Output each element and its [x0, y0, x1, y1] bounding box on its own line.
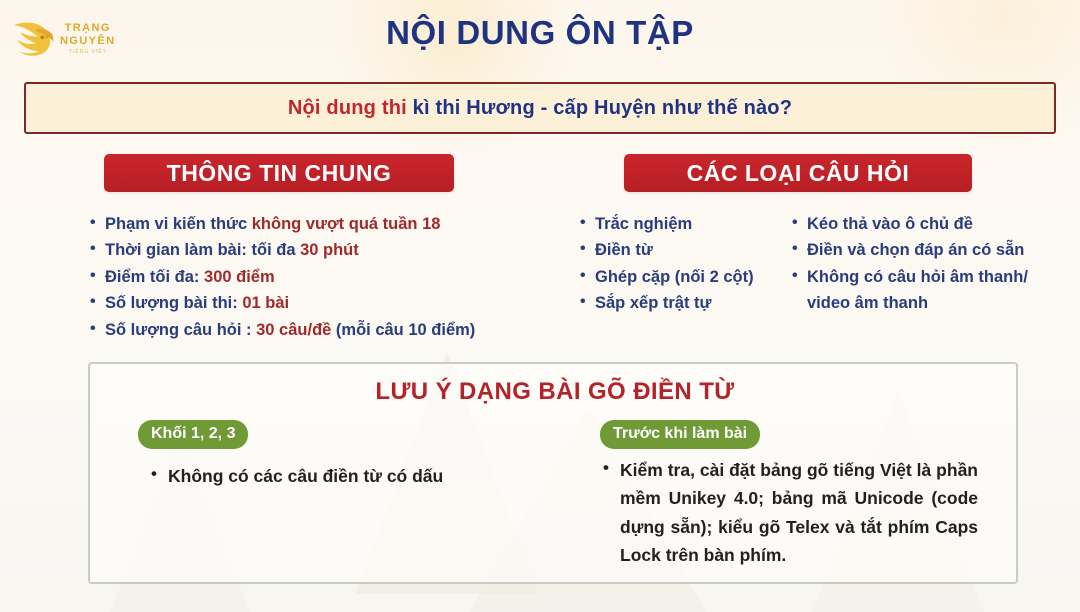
item-highlight: 30 câu/đề	[256, 321, 331, 339]
item-highlight: 300 điểm	[204, 268, 275, 286]
badge-before-exam: Trước khi làm bài	[600, 420, 760, 449]
list-item: Kiểm tra, cài đặt bảng gõ tiếng Việt là …	[600, 456, 978, 569]
list-item: Điền từ	[578, 237, 754, 263]
subtitle-text: Nội dung thi kì thi Hương - cấp Huyện nh…	[288, 97, 792, 120]
list-item: Điền và chọn đáp án có sẵn	[790, 237, 1028, 263]
item-label: Điểm tối đa:	[105, 268, 204, 286]
subtitle-banner: Nội dung thi kì thi Hương - cấp Huyện nh…	[24, 82, 1056, 134]
question-types-list-column-2: Kéo thả vào ô chủ đề Điền và chọn đáp án…	[790, 211, 1028, 317]
list-item: Sắp xếp trật tự	[578, 290, 754, 316]
list-item: Số lượng câu hỏi : 30 câu/đề (mỗi câu 10…	[88, 317, 475, 343]
page-title: NỘI DUNG ÔN TẬP	[0, 14, 1080, 52]
list-item: Phạm vi kiến thức không vượt quá tuần 18	[88, 211, 475, 237]
section-heading-question-types-label: CÁC LOẠI CÂU HỎI	[687, 160, 910, 187]
list-item: Điểm tối đa: 300 điểm	[88, 264, 475, 290]
list-item: Thời gian làm bài: tối đa 30 phút	[88, 237, 475, 263]
note-left-list: Không có các câu điền từ có dấu	[148, 462, 548, 490]
subtitle-blue-part: kì thi Hương - cấp Huyện như thế nào?	[413, 97, 792, 119]
section-heading-question-types: CÁC LOẠI CÂU HỎI	[624, 154, 972, 192]
item-tail: (mỗi câu 10 điểm)	[331, 321, 475, 339]
list-item: Không có các câu điền từ có dấu	[148, 462, 548, 490]
subtitle-red-part: Nội dung thi	[288, 97, 413, 119]
note-right-list: Kiểm tra, cài đặt bảng gõ tiếng Việt là …	[600, 456, 978, 569]
list-item: Không có câu hỏi âm thanh/	[790, 264, 1028, 290]
item-label: Thời gian làm bài: tối đa	[105, 241, 300, 259]
list-item: Trắc nghiệm	[578, 211, 754, 237]
note-box-title: LƯU Ý DẠNG BÀI GÕ ĐIỀN TỪ	[90, 378, 1020, 406]
question-types-list-column-1: Trắc nghiệm Điền từ Ghép cặp (nối 2 cột)…	[578, 211, 754, 317]
general-info-list: Phạm vi kiến thức không vượt quá tuần 18…	[88, 211, 475, 343]
item-label: Số lượng bài thi:	[105, 294, 242, 312]
slide-canvas: TRẠNG NGUYÊN TIẾNG VIỆT NỘI DUNG ÔN TẬP …	[0, 0, 1080, 612]
item-highlight: không vượt quá tuần 18	[252, 215, 441, 233]
list-item: Ghép cặp (nối 2 cột)	[578, 264, 754, 290]
item-highlight: 30 phút	[300, 241, 359, 259]
item-label: Số lượng câu hỏi :	[105, 321, 256, 339]
item-highlight: 01 bài	[242, 294, 289, 312]
note-box: LƯU Ý DẠNG BÀI GÕ ĐIỀN TỪ Khối 1, 2, 3 T…	[88, 362, 1018, 584]
list-item: Số lượng bài thi: 01 bài	[88, 290, 475, 316]
list-item-continuation: video âm thanh	[790, 290, 1028, 316]
item-label: Phạm vi kiến thức	[105, 215, 252, 233]
badge-grade-levels: Khối 1, 2, 3	[138, 420, 248, 449]
section-heading-general-info: THÔNG TIN CHUNG	[104, 154, 454, 192]
section-heading-general-info-label: THÔNG TIN CHUNG	[167, 160, 392, 187]
list-item: Kéo thả vào ô chủ đề	[790, 211, 1028, 237]
